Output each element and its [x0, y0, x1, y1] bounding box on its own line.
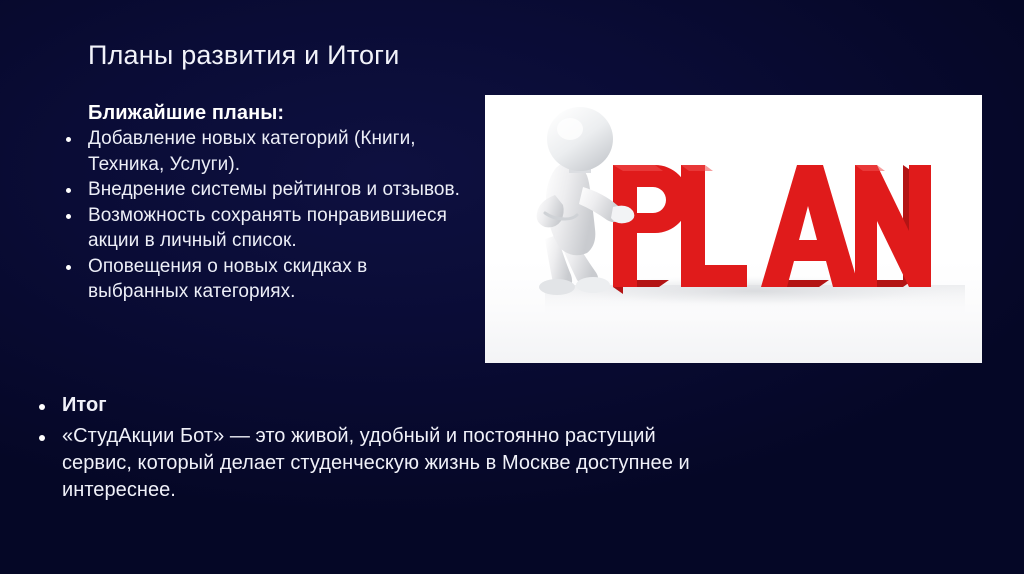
plans-list: Добавление новых категорий (Книги, Техни…: [46, 126, 466, 305]
plans-heading: Ближайшие планы:: [88, 100, 466, 126]
list-item: «СтудАкции Бот» — это живой, удобный и п…: [22, 423, 722, 504]
plan-figure-icon: [485, 95, 982, 363]
result-section: Итог «СтудАкции Бот» — это живой, удобны…: [22, 392, 722, 504]
plan-illustration: [485, 95, 982, 363]
list-item: Добавление новых категорий (Книги, Техни…: [58, 126, 466, 177]
illustration-stage: [485, 95, 982, 363]
list-item: Оповещения о новых скидках в выбранных к…: [58, 254, 466, 305]
result-list: Итог «СтудАкции Бот» — это живой, удобны…: [22, 392, 722, 504]
presentation-slide: Планы развития и Итоги Ближайшие планы: …: [0, 0, 1024, 574]
plans-section: Ближайшие планы: Добавление новых катего…: [46, 100, 466, 305]
list-item: Возможность сохранять понравившиеся акци…: [58, 203, 466, 254]
list-item: Итог: [22, 392, 722, 419]
page-title: Планы развития и Итоги: [88, 38, 400, 72]
list-item: Внедрение системы рейтингов и отзывов.: [58, 177, 466, 203]
